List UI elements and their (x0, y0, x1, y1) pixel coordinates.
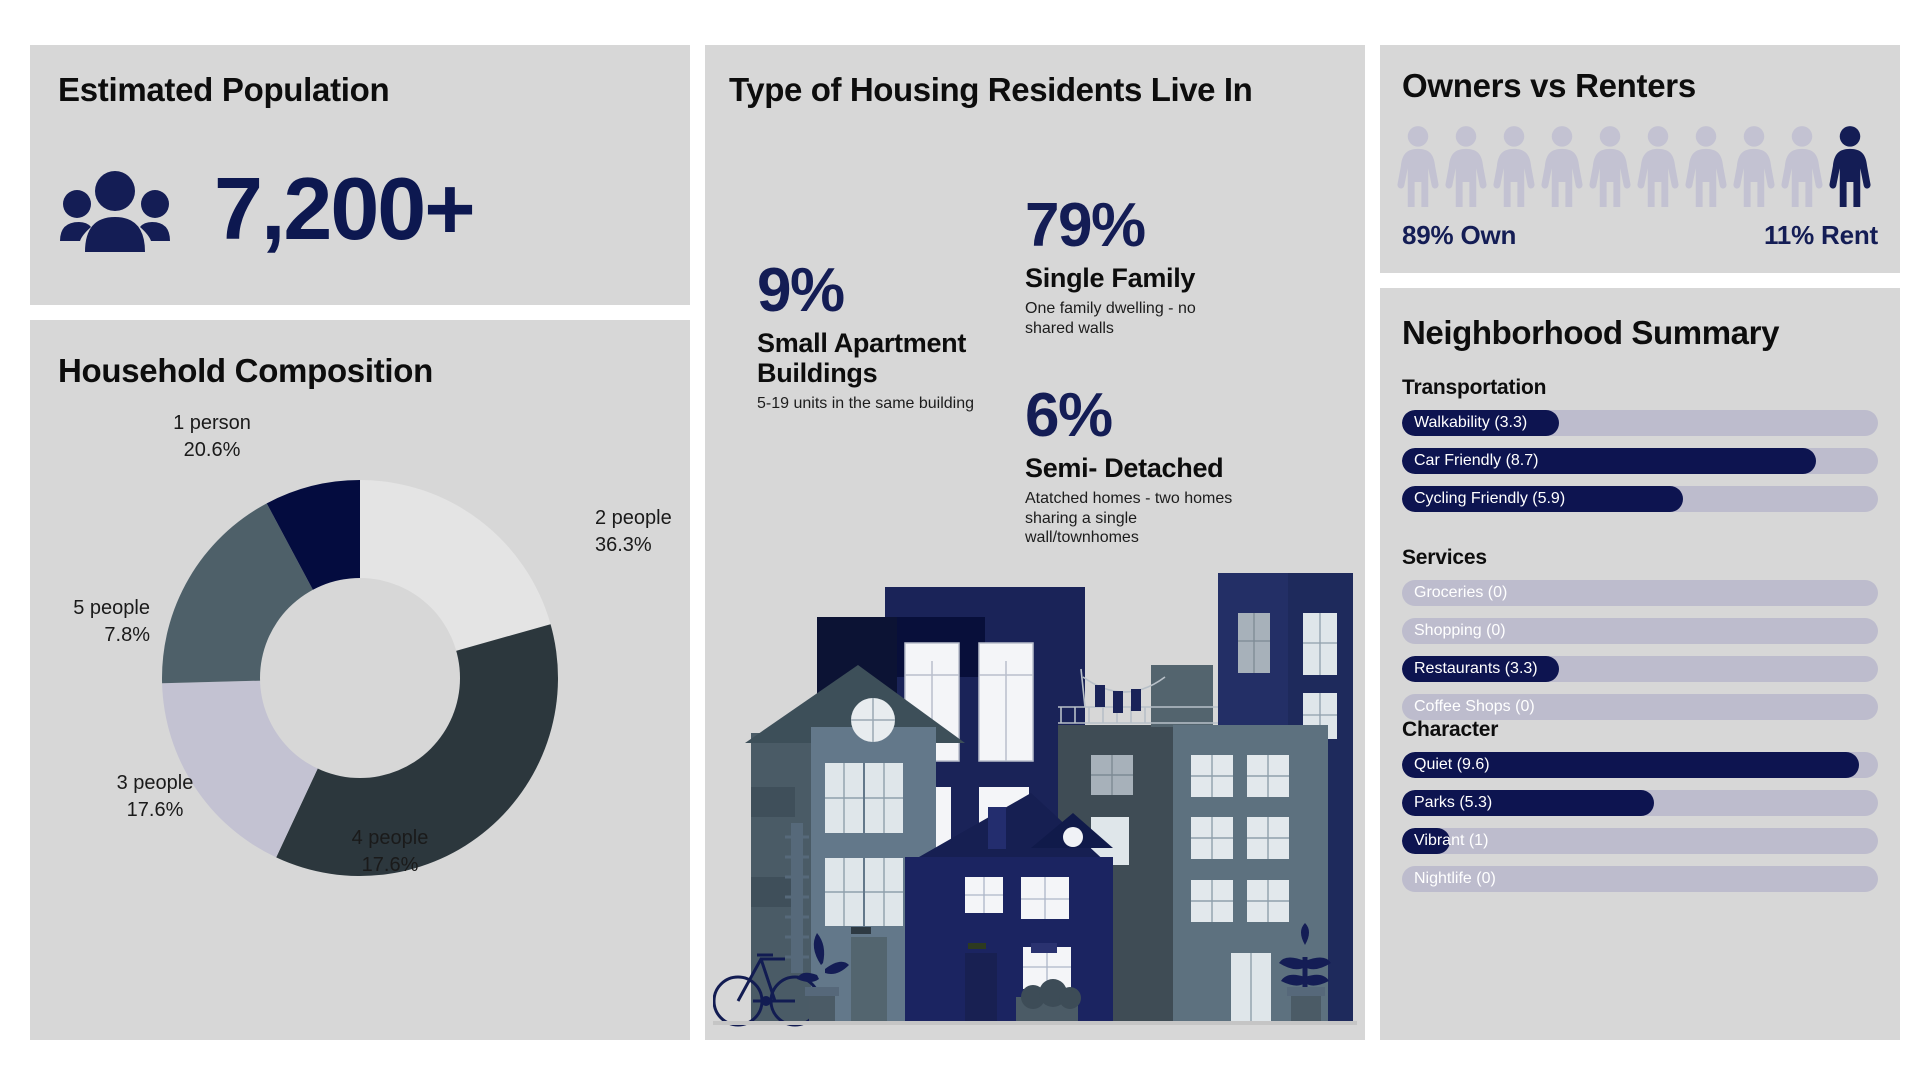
summary-bar-label: Car Friendly (8.7) (1414, 448, 1538, 474)
summary-bar[interactable]: Quiet (9.6) (1402, 752, 1878, 778)
donut-pct-1-person: 20.6% (122, 437, 302, 464)
summary-bar-label: Quiet (9.6) (1414, 752, 1490, 778)
person-icon-owner (1634, 125, 1682, 207)
stat-small-apartment: 9% Small Apartment Buildings 5-19 units … (757, 260, 1007, 414)
person-icon-owner (1442, 125, 1490, 207)
population-value: 7,200+ (214, 165, 474, 253)
stat-semi-detached-pct: 6% (1025, 385, 1255, 447)
summary-bar[interactable]: Walkability (3.3) (1402, 410, 1878, 436)
stat-semi-detached-desc: Atatched homes - two homes sharing a sin… (1025, 489, 1255, 548)
group-title: Transportation (1402, 376, 1878, 400)
owners-vs-renters-panel: Owners vs Renters 89% Own 11% Rent (1380, 45, 1900, 273)
stat-small-apartment-desc: 5-19 units in the same building (757, 394, 1007, 414)
summary-bar-label: Shopping (0) (1414, 618, 1506, 644)
housing-title: Type of Housing Residents Live In (729, 71, 1252, 109)
donut-label-5-people: 5 people 7.8% (20, 595, 150, 649)
population-value-row: 7,200+ (60, 165, 474, 253)
stat-small-apartment-pct: 9% (757, 260, 1007, 322)
donut-label-1-person: 1 person 20.6% (122, 410, 302, 464)
stat-semi-detached: 6% Semi- Detached Atatched homes - two h… (1025, 385, 1255, 548)
person-icon-owner (1538, 125, 1586, 207)
group-title: Character (1402, 718, 1878, 742)
summary-bar-label: Cycling Friendly (5.9) (1414, 486, 1565, 512)
city-buildings-illustration (713, 565, 1357, 1035)
summary-bar-label: Coffee Shops (0) (1414, 694, 1535, 720)
own-percent-label: 89% Own (1402, 220, 1516, 251)
owners-pictogram (1394, 125, 1886, 207)
summary-bar[interactable]: Groceries (0) (1402, 580, 1878, 606)
summary-bar-label: Walkability (3.3) (1414, 410, 1527, 436)
stat-small-apartment-name: Small Apartment Buildings (757, 328, 1007, 388)
summary-title: Neighborhood Summary (1402, 314, 1779, 352)
stat-single-family-name: Single Family (1025, 263, 1235, 293)
bars-transportation: Walkability (3.3)Car Friendly (8.7)Cycli… (1402, 410, 1878, 512)
people-group-icon (60, 167, 170, 252)
donut-label-3-people: 3 people 17.6% (90, 770, 220, 824)
summary-bar[interactable]: Nightlife (0) (1402, 866, 1878, 892)
summary-bar-label: Restaurants (3.3) (1414, 656, 1538, 682)
bars-character: Quiet (9.6)Parks (5.3)Vibrant (1)Nightli… (1402, 752, 1878, 892)
stat-single-family-desc: One family dwelling - no shared walls (1025, 299, 1235, 338)
person-icon-owner (1490, 125, 1538, 207)
summary-group-services: Services Groceries (0)Shopping (0)Restau… (1402, 546, 1878, 732)
stat-semi-detached-name: Semi- Detached (1025, 453, 1255, 483)
donut-pct-4-people: 17.6% (320, 852, 460, 879)
person-icon-renter (1826, 125, 1874, 207)
population-title: Estimated Population (58, 71, 389, 109)
person-icon-owner (1682, 125, 1730, 207)
summary-group-character: Character Quiet (9.6)Parks (5.3)Vibrant … (1402, 718, 1878, 904)
donut-pct-5-people: 7.8% (20, 622, 150, 649)
summary-bar-label: Vibrant (1) (1414, 828, 1488, 854)
bars-services: Groceries (0)Shopping (0)Restaurants (3.… (1402, 580, 1878, 720)
summary-group-transportation: Transportation Walkability (3.3)Car Frie… (1402, 376, 1878, 524)
person-icon-owner (1730, 125, 1778, 207)
summary-bar[interactable]: Parks (5.3) (1402, 790, 1878, 816)
rent-percent-label: 11% Rent (1764, 220, 1878, 251)
summary-bar[interactable]: Coffee Shops (0) (1402, 694, 1878, 720)
stat-single-family-pct: 79% (1025, 195, 1235, 257)
household-composition-panel: Household Composition 1 person 20.6% 5 p… (30, 320, 690, 1040)
summary-bar[interactable]: Vibrant (1) (1402, 828, 1878, 854)
household-title: Household Composition (58, 352, 433, 390)
donut-pct-3-people: 17.6% (90, 797, 220, 824)
owners-title: Owners vs Renters (1402, 67, 1696, 105)
summary-bar[interactable]: Restaurants (3.3) (1402, 656, 1878, 682)
summary-bar-label: Nightlife (0) (1414, 866, 1496, 892)
person-icon-owner (1586, 125, 1634, 207)
donut-label-4-people: 4 people 17.6% (320, 825, 460, 879)
person-icon-owner (1394, 125, 1442, 207)
summary-bar[interactable]: Shopping (0) (1402, 618, 1878, 644)
household-donut-chart (162, 480, 558, 876)
summary-bar[interactable]: Cycling Friendly (5.9) (1402, 486, 1878, 512)
person-icon-owner (1778, 125, 1826, 207)
neighborhood-summary-panel: Neighborhood Summary Transportation Walk… (1380, 288, 1900, 1040)
group-title: Services (1402, 546, 1878, 570)
stat-single-family: 79% Single Family One family dwelling - … (1025, 195, 1235, 338)
donut-chart-area: 1 person 20.6% 5 people 7.8% 3 people 17… (30, 400, 690, 1030)
summary-bar[interactable]: Car Friendly (8.7) (1402, 448, 1878, 474)
estimated-population-panel: Estimated Population 7,200+ (30, 45, 690, 305)
summary-bar-label: Parks (5.3) (1414, 790, 1492, 816)
summary-bar-label: Groceries (0) (1414, 580, 1507, 606)
